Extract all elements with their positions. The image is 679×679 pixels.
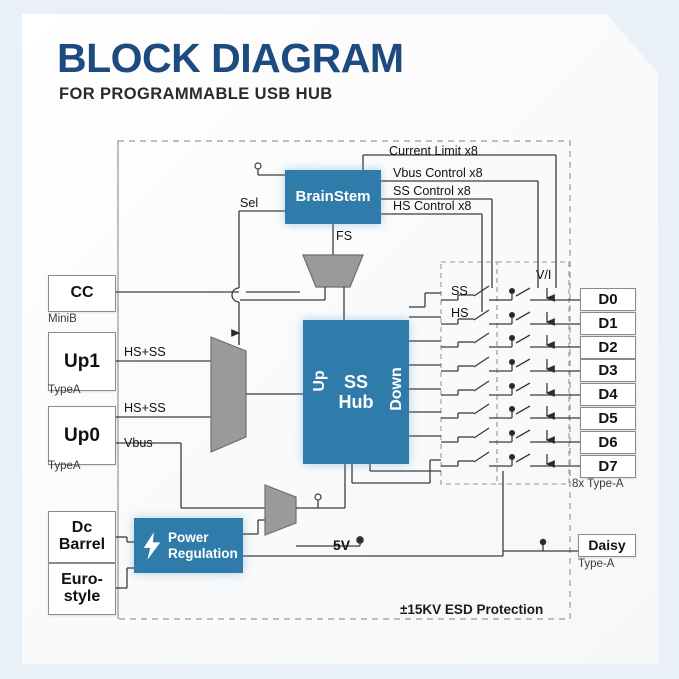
block-diagram-page: BLOCK DIAGRAM FOR PROGRAMMABLE USB HUB <box>0 0 679 679</box>
brainstem-block[interactable]: BrainStem <box>285 170 381 224</box>
signal-vi-label: V/I <box>536 268 551 282</box>
signal-hs-control-label: HS Control x8 <box>393 199 471 213</box>
downstream-port-d0-label: D0 <box>598 292 617 308</box>
signal-current-limit-label: Current Limit x8 <box>389 144 478 158</box>
downstream-port-d6[interactable]: D6 <box>580 431 636 454</box>
power-regulation-line2: Regulation <box>168 546 238 561</box>
signal-vbus-label: Vbus <box>124 436 153 450</box>
downstream-port-d1-label: D1 <box>598 316 617 332</box>
downstream-port-d3[interactable]: D3 <box>580 359 636 382</box>
downstream-port-d0[interactable]: D0 <box>580 288 636 311</box>
lightning-bolt-glyph <box>141 532 163 560</box>
signal-hs-ss-up1-label: HS+SS <box>124 345 166 359</box>
port-cc-label: CC <box>70 285 93 302</box>
port-cc[interactable]: CC <box>48 275 116 312</box>
port-up0-sublabel: TypeA <box>48 460 81 472</box>
ss-hub-up-label: Up <box>311 361 329 401</box>
signal-hs-label: HS <box>451 306 469 320</box>
signal-sel-label: Sel <box>240 196 258 210</box>
ss-hub-label-line2: Hub <box>339 392 374 412</box>
port-up1-sublabel: TypeA <box>48 384 81 396</box>
power-bolt-icon <box>141 532 163 560</box>
port-dc-barrel-label: Dc Barrel <box>49 520 115 554</box>
power-mux-shape <box>265 485 296 535</box>
port-cc-sublabel: MiniB <box>48 313 77 325</box>
port-up1-label: Up1 <box>64 352 100 372</box>
downstream-port-d2[interactable]: D2 <box>580 336 636 359</box>
port-euro-style-label: Euro-style <box>49 572 115 606</box>
daisy-port-label: Daisy <box>588 538 625 553</box>
downstream-port-d5-label: D5 <box>598 411 617 427</box>
signal-ss-label: SS <box>451 284 468 298</box>
vbus-switch-bank-boundary <box>497 262 569 484</box>
downstream-port-d1[interactable]: D1 <box>580 312 636 335</box>
downstream-switch-rows <box>441 286 580 551</box>
port-up0-label: Up0 <box>64 426 100 446</box>
upstream-mux-shape <box>211 337 246 452</box>
ss-hub-down-label: Down <box>388 361 406 417</box>
downstream-ports-caption: 8x Type-A <box>572 478 624 490</box>
power-regulation-line1: Power <box>168 530 238 545</box>
ss-hub-label-line1: SS <box>339 372 374 392</box>
signal-vbus-control-label: Vbus Control x8 <box>393 166 483 180</box>
port-dc-barrel[interactable]: Dc Barrel <box>48 511 116 563</box>
port-euro-style[interactable]: Euro-style <box>48 563 116 615</box>
downstream-port-d4[interactable]: D4 <box>580 383 636 406</box>
port-up1[interactable]: Up1 <box>48 332 116 391</box>
downstream-port-d6-label: D6 <box>598 435 617 451</box>
daisy-port-sublabel: Type-A <box>578 558 614 570</box>
downstream-port-d7[interactable]: D7 <box>580 455 636 478</box>
esd-protection-note: ±15KV ESD Protection <box>400 602 543 617</box>
signal-5v-label: 5V <box>333 537 350 553</box>
downstream-port-d5[interactable]: D5 <box>580 407 636 430</box>
brainstem-label: BrainStem <box>295 189 370 206</box>
signal-fs-label: FS <box>336 229 352 243</box>
downstream-port-d4-label: D4 <box>598 387 617 403</box>
downstream-port-d3-label: D3 <box>598 363 617 379</box>
signal-hs-ss-up0-label: HS+SS <box>124 401 166 415</box>
daisy-port[interactable]: Daisy <box>578 534 636 557</box>
downstream-port-d2-label: D2 <box>598 340 617 356</box>
signal-ss-control-label: SS Control x8 <box>393 184 471 198</box>
port-up0[interactable]: Up0 <box>48 406 116 465</box>
fs-mux-shape <box>303 255 363 287</box>
downstream-port-d7-label: D7 <box>598 459 617 475</box>
